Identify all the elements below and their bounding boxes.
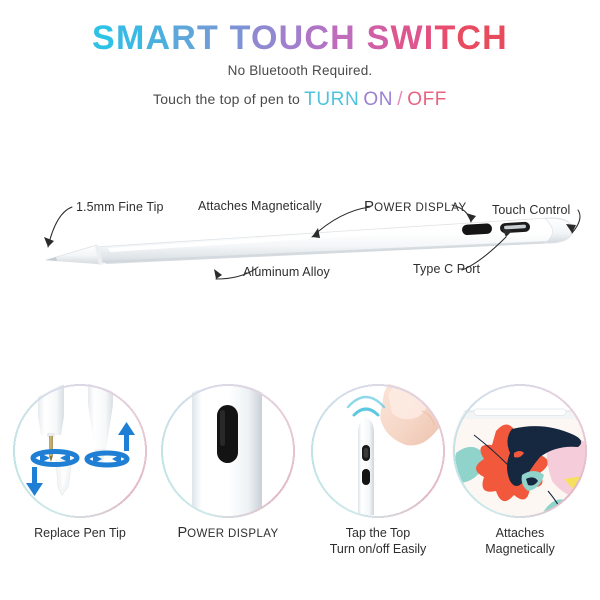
- subtitle-no-bluetooth: No Bluetooth Required.: [0, 63, 600, 78]
- caption-power-rest: OWER: [187, 528, 224, 540]
- direction-arrow-down: [26, 467, 43, 496]
- pen-attached-top: [466, 409, 566, 416]
- label-attaches-magnetically: Attaches Magnetically: [198, 199, 322, 213]
- power-display-window-vertical: [362, 469, 370, 485]
- power-display-window-gloss: [220, 410, 225, 446]
- title-letter-7: O: [251, 19, 279, 57]
- pen-tip-cone: [46, 245, 101, 264]
- infographic-root: SMART TOUCH SWITCH No Bluetooth Required…: [0, 0, 600, 600]
- caption-tap-line1: Tap the Top: [346, 526, 410, 540]
- ipad-screen: [452, 419, 586, 517]
- feature-attaches-magnetically: Attaches Magnetically: [452, 383, 588, 519]
- title-letter-14: I: [424, 19, 435, 57]
- hero-pen-diagram: [0, 175, 600, 325]
- finger-illustration: [380, 383, 442, 446]
- rotation-arrow-right: [87, 453, 127, 465]
- title-letter-8: U: [279, 19, 305, 57]
- title-letter-15: T: [434, 19, 456, 57]
- pen-illustration: [46, 218, 572, 265]
- label-aluminum-alloy: Aluminum Alloy: [243, 265, 330, 279]
- feature-replace-pen-tip: Replace Pen Tip: [12, 383, 148, 519]
- label-power-display: POWER DISPLAY: [364, 198, 467, 215]
- tap-ripple-arcs: [348, 397, 384, 415]
- caption-power-cap: P: [177, 525, 187, 541]
- label-power-rest: OWER: [374, 202, 412, 214]
- barrel-highlight: [204, 383, 213, 517]
- title-letter-1: M: [116, 19, 146, 57]
- title-letter-3: R: [171, 19, 197, 57]
- feature-row: Replace Pen Tip: [0, 383, 600, 583]
- label-type-c-port: Type C Port: [413, 262, 480, 276]
- caption-display-word: DISPLAY: [228, 528, 279, 540]
- title-letter-0: S: [92, 19, 116, 57]
- title-letter-5: [219, 19, 230, 57]
- on-word: ON: [363, 89, 393, 110]
- feature-circle-art-tap-top: [310, 383, 444, 517]
- feature-circle-art-replace-tip: [12, 383, 146, 517]
- off-word: OFF: [407, 89, 447, 110]
- feature-tap-the-top: Tap the Top Turn on/off Easily: [310, 383, 446, 519]
- pen-vertical: [358, 417, 374, 515]
- subtitle-turn-on-off: Touch the top of pen to TURN ON / OFF: [0, 89, 600, 111]
- feature-caption-tap-the-top: Tap the Top Turn on/off Easily: [298, 525, 458, 557]
- feature-circle-art-attaches: [452, 383, 586, 517]
- label-touch-control: Touch Control: [492, 203, 570, 217]
- title-letter-17: H: [482, 19, 508, 57]
- title-letter-2: A: [145, 19, 171, 57]
- subtitle-prefix: Touch the top of pen to: [153, 91, 300, 107]
- feature-caption-attaches-magnetically: Attaches Magnetically: [440, 525, 600, 557]
- title-letter-4: T: [197, 19, 219, 57]
- title-letter-11: [356, 19, 367, 57]
- turn-word: TURN: [304, 89, 359, 110]
- rotation-arrow-left: [33, 452, 77, 465]
- label-power-cap: P: [364, 198, 374, 215]
- feature-circle-art-power-display: [160, 383, 294, 517]
- caption-attaches-line1: Attaches: [496, 526, 545, 540]
- title-letter-10: H: [330, 19, 356, 57]
- slash-separator: /: [397, 89, 403, 110]
- feature-caption-power-display: POWER DISPLAY: [148, 525, 308, 542]
- caption-attaches-line2: Magnetically: [485, 542, 554, 556]
- feature-caption-replace-pen-tip: Replace Pen Tip: [0, 525, 160, 541]
- label-fine-tip: 1.5mm Fine Tip: [76, 200, 164, 214]
- title-letter-13: W: [390, 19, 423, 57]
- title-letter-6: T: [230, 19, 251, 57]
- label-power-display-word: DISPLAY: [415, 202, 466, 214]
- title-letter-9: C: [304, 19, 330, 57]
- title-letter-16: C: [456, 19, 482, 57]
- direction-arrow-up: [118, 422, 135, 451]
- caption-tap-line2: Turn on/off Easily: [330, 542, 427, 556]
- title-letter-12: S: [367, 19, 391, 57]
- feature-power-display: POWER DISPLAY: [160, 383, 296, 519]
- page-title: SMART TOUCH SWITCH: [0, 18, 600, 58]
- power-display-window: [462, 223, 493, 235]
